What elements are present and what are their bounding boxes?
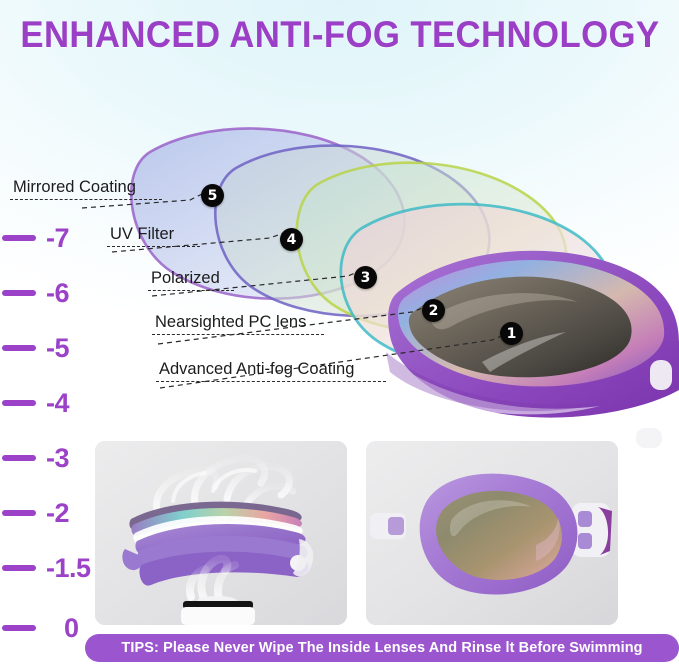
callout-underline bbox=[148, 290, 234, 291]
badge-3: 3 bbox=[354, 266, 377, 289]
scale-tick: -5 bbox=[0, 333, 69, 363]
scale-dash bbox=[2, 235, 36, 241]
steam-demo-illustration bbox=[95, 441, 347, 625]
badge-2: 2 bbox=[422, 299, 445, 322]
callout-label: Mirrored Coating bbox=[10, 178, 162, 199]
goggle-closeup-illustration bbox=[366, 441, 618, 625]
scale-value: -4 bbox=[46, 388, 69, 419]
strap-clip-left bbox=[370, 513, 406, 539]
page-title: ENHANCED ANTI-FOG TECHNOLOGY bbox=[20, 14, 658, 56]
scale-value: -3 bbox=[46, 443, 69, 474]
lens-layer-illustration bbox=[0, 60, 679, 455]
scale-tick: -4 bbox=[0, 388, 69, 418]
scale-dash bbox=[2, 565, 36, 571]
scale-value: -5 bbox=[46, 333, 69, 364]
scale-value: 0 bbox=[64, 613, 79, 644]
callout-underline bbox=[107, 246, 200, 247]
scale-value: -2 bbox=[46, 498, 69, 529]
infographic-root: ENHANCED ANTI-FOG TECHNOLOGY bbox=[0, 0, 679, 667]
callout-mirrored-coating: Mirrored Coating bbox=[10, 178, 162, 200]
badge-4: 4 bbox=[280, 228, 303, 251]
callout-advanced-anti-fog-coating: Advanced Anti-fog Coating bbox=[156, 360, 386, 382]
callout-underline bbox=[10, 199, 162, 200]
scale-dash bbox=[2, 400, 36, 406]
photo-panel-goggle-lens-closeup bbox=[366, 441, 618, 625]
callout-underline bbox=[156, 381, 386, 382]
callout-label: Polarized bbox=[148, 269, 234, 290]
scale-tick: -3 bbox=[0, 443, 69, 473]
diopter-scale: -7 -6 -5 -4 -3 -2 -1.5 0 bbox=[0, 215, 100, 655]
callout-uv-filter: UV Filter bbox=[107, 225, 200, 247]
scale-tick: -1.5 bbox=[0, 553, 91, 583]
scale-dash bbox=[2, 290, 36, 296]
badge-1: 1 bbox=[500, 322, 523, 345]
callout-label: UV Filter bbox=[107, 225, 200, 246]
scale-dash bbox=[2, 625, 36, 631]
scale-value: -6 bbox=[46, 278, 69, 309]
scale-tick: -7 bbox=[0, 223, 69, 253]
scale-dash bbox=[2, 345, 36, 351]
scale-value: -7 bbox=[46, 223, 69, 254]
scale-dash bbox=[2, 510, 36, 516]
scale-value: -1.5 bbox=[46, 553, 91, 584]
scale-tick: -2 bbox=[0, 498, 69, 528]
badge-5: 5 bbox=[201, 184, 224, 207]
scale-tick: -6 bbox=[0, 278, 69, 308]
callout-label: Advanced Anti-fog Coating bbox=[156, 360, 386, 381]
tips-banner: TIPS: Please Never Wipe The Inside Lense… bbox=[85, 634, 679, 662]
callout-underline bbox=[152, 334, 324, 335]
scale-dash bbox=[2, 455, 36, 461]
scale-tick: 0 bbox=[0, 613, 79, 643]
strap-clip-right bbox=[572, 503, 612, 557]
callout-nearsighted-pc-lens: Nearsighted PC lens bbox=[152, 313, 324, 335]
callout-polarized: Polarized bbox=[148, 269, 234, 291]
callout-label: Nearsighted PC lens bbox=[152, 313, 324, 334]
photo-panel-anti-fog-steam-demo bbox=[95, 441, 347, 625]
